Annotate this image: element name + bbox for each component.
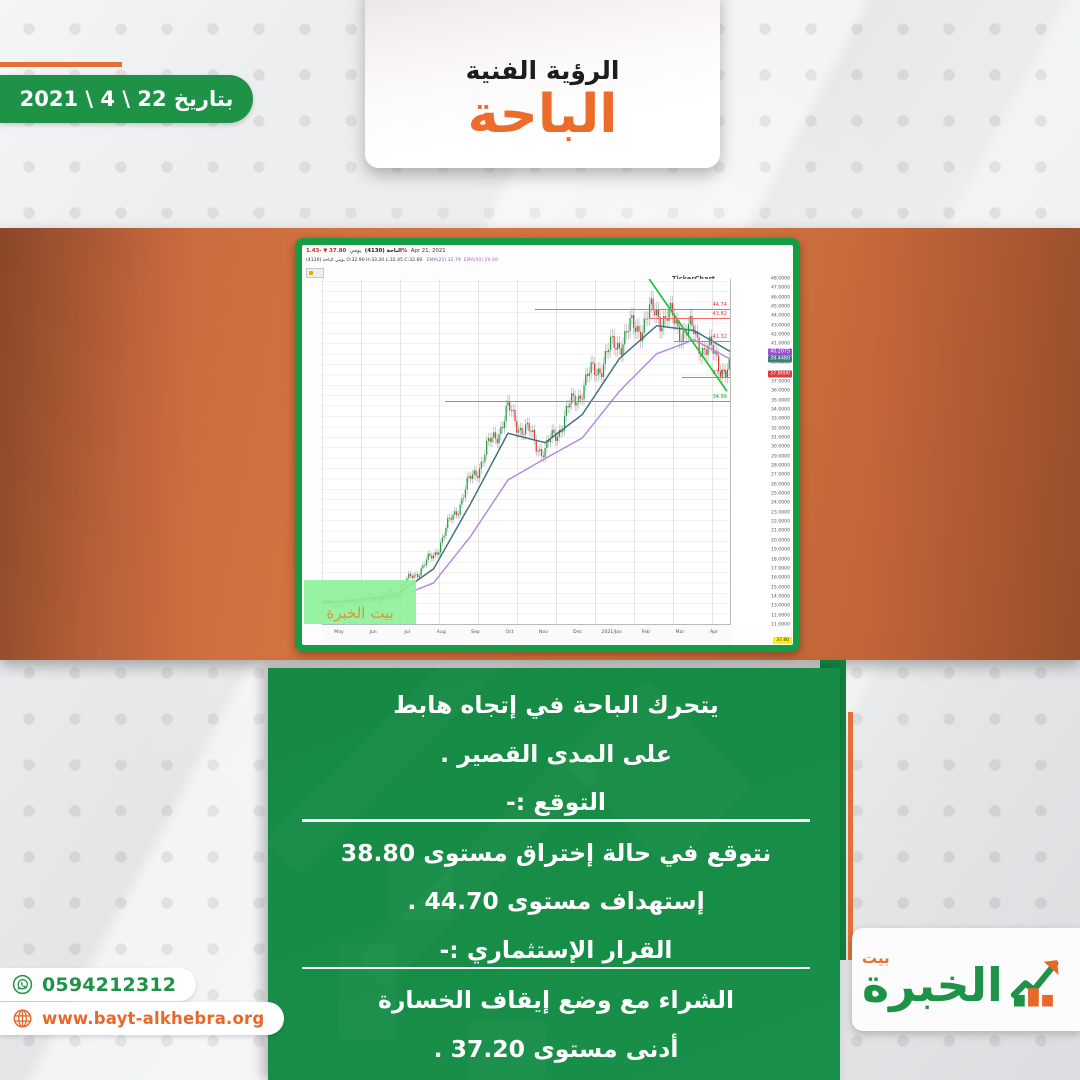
chart-time-axis: MayJunJulAugSepOctNovDec2021/JanFebMarAp… (322, 624, 731, 645)
chart-quote-line: الباحة (4130) يومي 37.80 ▼ -1.43% Apr 21… (306, 248, 789, 254)
analysis-text-block: يتحرك الباحة في إتجاه هابط على المدى الق… (268, 668, 840, 1080)
growth-arrow-chart-icon (1009, 944, 1070, 1016)
forecast-heading: التوقع :- (302, 791, 810, 822)
chart-ohlc-line: يومي الباحة (4130) O:32.90 H:33.20 L:32.… (306, 258, 789, 263)
price-axis-tick: 36.0000 (771, 389, 790, 394)
title-subtitle: الرؤية الفنية (466, 58, 620, 83)
brand-logo-card[interactable]: بيت الخبرة (852, 928, 1080, 1031)
price-axis-tick: 19.0000 (771, 548, 790, 553)
price-axis-tick: 15.0000 (771, 585, 790, 590)
price-axis-tick: 13.0000 (771, 604, 790, 609)
price-axis-tick: 33.0000 (771, 417, 790, 422)
price-axis-tick: 11.0000 (771, 623, 790, 628)
time-axis-tick: Feb (642, 630, 650, 635)
price-axis-tick: 29.0000 (771, 454, 790, 459)
price-axis-tick: 43.0000 (771, 323, 790, 328)
chart-plot-area[interactable]: 44.7443.8241.3237.5534.99 (322, 279, 731, 625)
infographic-canvas: بتاريخ 22 \ 4 \ 2021 الرؤية الفنية الباح… (0, 0, 1080, 1080)
price-axis-tick: 41.0000 (771, 342, 790, 347)
price-axis-tick: 14.0000 (771, 594, 790, 599)
price-axis-tick: 42.0000 (771, 333, 790, 338)
price-axis-tick: 26.0000 (771, 482, 790, 487)
chart-down-arrow-icon: ▼ (323, 248, 327, 254)
decision-line-1: الشراء مع وضع إيقاف الخسارة (302, 989, 810, 1013)
chart-price-axis: 48.000047.000046.000045.000044.000043.00… (730, 279, 793, 625)
forecast-line-1: نتوقع في حالة إختراق مستوى 38.80 (302, 842, 810, 866)
price-axis-tick: 34.0000 (771, 407, 790, 412)
whatsapp-icon (12, 974, 33, 995)
chart-last-price: 37.80 (329, 248, 346, 254)
ema21-line (322, 326, 731, 603)
chart-ohlc-values: يومي الباحة (4130) O:32.90 H:33.20 L:32.… (306, 258, 422, 263)
level-label-34.99: 34.99 (713, 394, 727, 400)
price-axis-tick: 23.0000 (771, 510, 790, 515)
price-axis-tick: 17.0000 (771, 566, 790, 571)
contact-website-chip[interactable]: www.bayt-alkhebra.org (0, 1002, 284, 1035)
time-axis-tick: Jun (370, 630, 377, 635)
right-orange-vertical-rule (848, 712, 853, 960)
analysis-line-1: يتحرك الباحة في إتجاه هابط (302, 694, 810, 718)
time-axis-tick: Dec (573, 630, 582, 635)
price-axis-tick: 37.0000 (771, 379, 790, 384)
logo-brand-main: الخبرة (862, 962, 1003, 1008)
time-axis-tick: Apr (710, 630, 718, 635)
candlestick-series (323, 291, 731, 610)
time-axis-tick: Sep (471, 630, 480, 635)
price-axis-tick: 48.0000 (771, 277, 790, 282)
chart-ema50-readout: EMA(50) 29.09 (464, 258, 498, 263)
level-line-34.99 (445, 401, 731, 402)
level-label-41.32: 41.32 (713, 335, 727, 341)
price-axis-tick: 31.0000 (771, 435, 790, 440)
level-line-37.55 (682, 377, 731, 378)
time-axis-tick: Mar (676, 630, 685, 635)
price-axis-tick: 12.0000 (771, 613, 790, 618)
contact-website-url: www.bayt-alkhebra.org (42, 1009, 264, 1028)
price-axis-tick: 32.0000 (771, 426, 790, 431)
chart-brand-watermark: بيت الخبرة (304, 580, 416, 624)
level-label-43.82: 43.82 (713, 311, 727, 317)
price-axis-tick: 35.0000 (771, 398, 790, 403)
title-card: الرؤية الفنية الباحة (365, 0, 720, 168)
analysis-panel: يتحرك الباحة في إتجاه هابط على المدى الق… (268, 668, 840, 1080)
contact-phone-number: 0594212312 (42, 974, 176, 996)
price-axis-tick: 30.0000 (771, 445, 790, 450)
level-label-37.55: 37.55 (713, 370, 727, 376)
time-axis-tick: Jul (404, 630, 410, 635)
price-axis-tick: 20.0000 (771, 538, 790, 543)
decision-heading: القرار الإستثماري :- (302, 939, 810, 970)
globe-icon (12, 1008, 33, 1029)
price-axis-tick: 18.0000 (771, 557, 790, 562)
chart-frame: الباحة (4130) يومي 37.80 ▼ -1.43% Apr 21… (295, 238, 800, 652)
chart-quote-date: Apr 21, 2021 (411, 248, 446, 254)
price-axis-tick: 47.0000 (771, 286, 790, 291)
level-label-44.74: 44.74 (713, 303, 727, 309)
price-axis-tick: 21.0000 (771, 529, 790, 534)
time-axis-tick: 2021/Jan (602, 630, 622, 635)
price-axis-marker-ema21: 40.2075 (768, 348, 792, 355)
chart-last-price-tag: 37.80 (773, 637, 792, 644)
time-axis-tick: May (334, 630, 344, 635)
page-title: الباحة (468, 85, 618, 144)
price-axis-tick: 22.0000 (771, 520, 790, 525)
price-axis-tick: 24.0000 (771, 501, 790, 506)
price-axis-tick: 45.0000 (771, 305, 790, 310)
chart-symbol: الباحة (4130) (365, 248, 402, 254)
decision-line-2: أدنى مستوى 37.20 . (302, 1038, 810, 1062)
time-axis-tick: Oct (505, 630, 513, 635)
price-axis-marker-last: 37.8000 (768, 371, 792, 378)
chart-toolbar-button[interactable] (306, 268, 324, 278)
chart-interval: يومي (350, 248, 362, 254)
analysis-line-2: على المدى القصير . (302, 743, 810, 767)
chart-watermark-text: بيت الخبرة (326, 604, 393, 624)
level-line-44.74 (535, 309, 731, 310)
price-axis-tick: 16.0000 (771, 576, 790, 581)
time-axis-tick: Nov (539, 630, 548, 635)
time-axis-tick: Aug (437, 630, 446, 635)
header-accent-bar (0, 62, 122, 67)
ema50-line (322, 340, 731, 604)
contact-phone-chip[interactable]: 0594212312 (0, 968, 196, 1001)
forecast-line-2: إستهداف مستوى 44.70 . (302, 890, 810, 914)
price-axis-tick: 28.0000 (771, 464, 790, 469)
chart-window[interactable]: الباحة (4130) يومي 37.80 ▼ -1.43% Apr 21… (302, 245, 793, 645)
price-axis-tick: 27.0000 (771, 473, 790, 478)
chart-ema21-readout: EMA(21) 32.79 (427, 258, 461, 263)
date-badge-label: بتاريخ 22 \ 4 \ 2021 (20, 87, 234, 111)
date-badge: بتاريخ 22 \ 4 \ 2021 (0, 75, 253, 123)
price-axis-tick: 46.0000 (771, 295, 790, 300)
level-line-41.32 (674, 341, 731, 342)
price-axis-marker-ema50: 39.4480 (768, 355, 792, 362)
price-axis-tick: 44.0000 (771, 314, 790, 319)
price-axis-tick: 25.0000 (771, 492, 790, 497)
level-line-43.82 (649, 318, 731, 319)
chart-series-svg (322, 279, 731, 625)
